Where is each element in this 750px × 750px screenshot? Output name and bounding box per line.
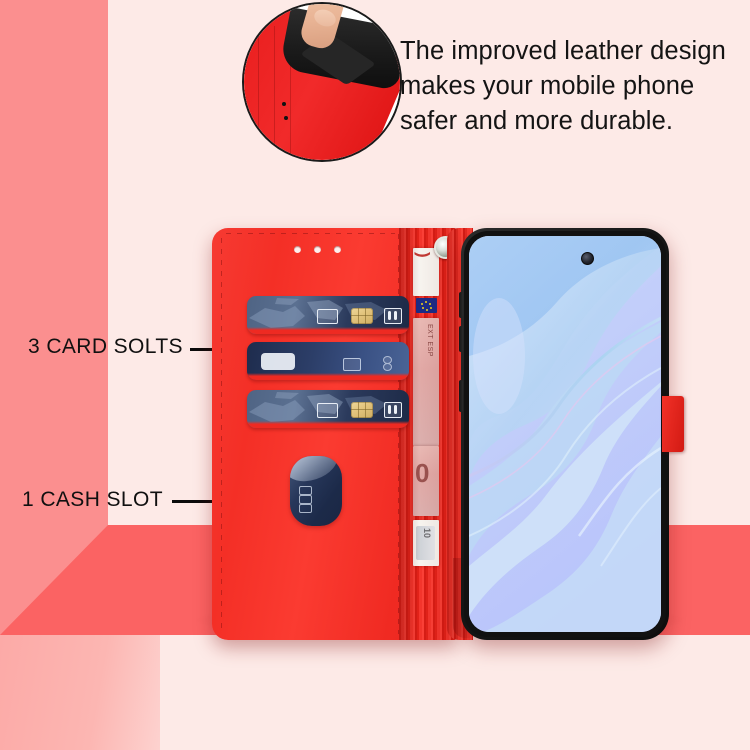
headline-line-2: makes your mobile phone [400, 69, 740, 104]
cash-note-edge [299, 495, 312, 504]
stitching-top [226, 233, 395, 234]
card-chip-icon [351, 308, 373, 324]
card-label-patch [261, 353, 295, 370]
card-slot-lip [247, 421, 409, 428]
card-dot-icon [383, 363, 392, 371]
cash-note-edge [299, 486, 312, 495]
card-logo-rect [317, 309, 338, 324]
magnifier-content [244, 4, 400, 160]
cash-pocket-highlight [290, 456, 342, 488]
card-slot-3[interactable] [247, 390, 409, 428]
card-logo-rect [317, 403, 338, 418]
background-foreground-left [0, 635, 160, 750]
cash-note-edge [299, 504, 312, 513]
card-slot-1[interactable] [247, 296, 409, 334]
wallpaper [469, 236, 661, 632]
headline-line-1: The improved leather design [400, 34, 740, 69]
leather-dot-icon [282, 102, 286, 106]
headline-line-3: safer and more durable. [400, 104, 740, 139]
headline-text: The improved leather design makes your m… [400, 34, 740, 139]
cash-pocket[interactable] [290, 456, 342, 526]
camera-hole-icon [334, 246, 341, 253]
camera-hole-icon [294, 246, 301, 253]
card-slot-lip [247, 327, 409, 334]
phone-device[interactable] [447, 228, 669, 640]
volume-up-button[interactable] [459, 292, 463, 318]
card-slot-2[interactable] [247, 342, 409, 380]
magnifier-circle [242, 2, 402, 162]
front-camera-icon [581, 252, 594, 265]
stitching-left [221, 238, 222, 630]
annotation-label-card-slots: 3 CARD SOLTS [28, 335, 183, 359]
leather-dot-icon [284, 116, 288, 120]
volume-down-button[interactable] [459, 326, 463, 352]
phone-screen[interactable] [469, 236, 661, 632]
camera-hole-icon [314, 246, 321, 253]
card-brand-mark [384, 308, 402, 324]
card-chip-icon [351, 402, 373, 418]
annotation-label-cash-slot: 1 CASH SLOT [22, 488, 163, 512]
card-logo-rect [343, 358, 361, 371]
background-floor-wedge [0, 525, 108, 635]
card-slot-lip [247, 373, 409, 380]
power-button[interactable] [459, 380, 463, 412]
card-brand-mark [384, 402, 402, 418]
product-image-canvas: The improved leather design makes your m… [0, 0, 750, 750]
background-wall-left [0, 0, 108, 560]
magnetic-closure-tab[interactable] [662, 396, 684, 452]
wallet-case[interactable]: )( EXT ESP 0 10 [212, 228, 457, 640]
